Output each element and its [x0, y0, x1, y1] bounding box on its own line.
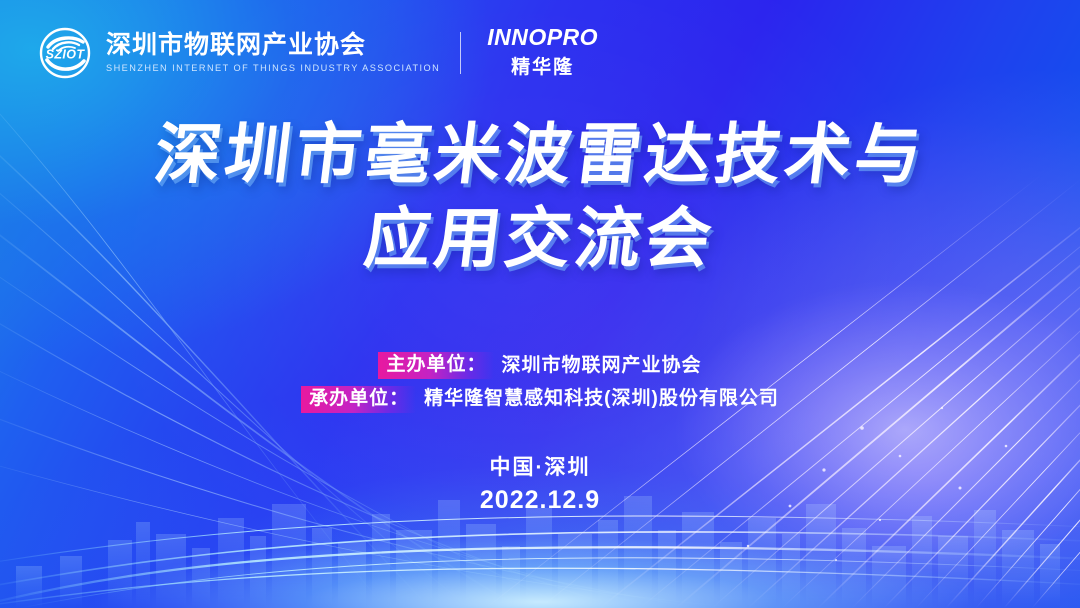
sziot-chinese-name: 深圳市物联网产业协会: [106, 32, 440, 58]
svg-text:SZIOT: SZIOT: [46, 47, 86, 61]
innopro-chinese-name: 精华隆: [511, 52, 574, 79]
organizer-row: 主办单位： 深圳市物联网产业协会: [378, 352, 701, 379]
event-title-line-2: 应用交流会: [0, 196, 1080, 280]
organizer-value: 精华隆智慧感知科技(深圳)股份有限公司: [424, 389, 779, 409]
event-title-line-1: 深圳市毫米波雷达技术与: [0, 112, 1080, 196]
sziot-circular-wave-emblem-icon: SZIOT: [38, 27, 92, 79]
logo-bar: SZIOT 深圳市物联网产业协会 SHENZHEN INTERNET OF TH…: [38, 26, 598, 79]
event-date: 2022.12.9: [0, 484, 1080, 518]
organizer-list: 主办单位： 深圳市物联网产业协会 承办单位： 精华隆智慧感知科技(深圳)股份有限…: [0, 352, 1080, 413]
organizer-value: 深圳市物联网产业协会: [502, 356, 702, 376]
organizer-label: 承办单位：: [301, 386, 416, 413]
organizer-row: 承办单位： 精华隆智慧感知科技(深圳)股份有限公司: [301, 386, 779, 413]
sziot-english-name: SHENZHEN INTERNET OF THINGS INDUSTRY ASS…: [106, 63, 440, 73]
innopro-english-name: INNOPRO: [487, 26, 598, 49]
event-banner: SZIOT 深圳市物联网产业协会 SHENZHEN INTERNET OF TH…: [0, 0, 1080, 608]
event-title: 深圳市毫米波雷达技术与 应用交流会: [0, 112, 1080, 281]
event-footer: 中国·深圳 2022.12.9: [0, 452, 1080, 517]
logo-divider: [460, 32, 461, 74]
innopro-logo: INNOPRO 精华隆: [487, 26, 598, 79]
organizer-label: 主办单位：: [378, 352, 493, 379]
event-city: 中国·深圳: [0, 452, 1080, 484]
sziot-wordmark: 深圳市物联网产业协会 SHENZHEN INTERNET OF THINGS I…: [106, 32, 440, 72]
